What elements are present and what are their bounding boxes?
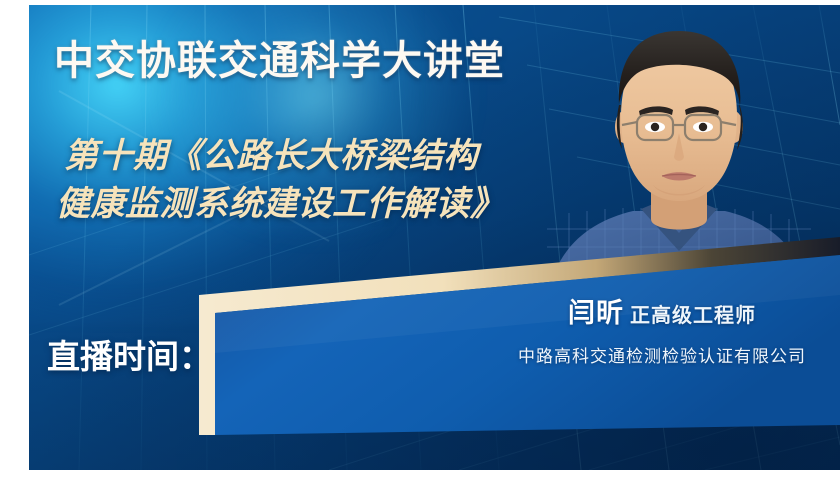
poster-canvas: 中交协联交通科学大讲堂 第十期《公路长大桥梁结构 健康监测系统建设工作解读》 直… — [29, 5, 840, 470]
poster-frame: 中交协联交通科学大讲堂 第十期《公路长大桥梁结构 健康监测系统建设工作解读》 直… — [0, 0, 840, 480]
speaker-panel-shape — [29, 5, 840, 470]
speaker-title: 正高级工程师 — [630, 305, 756, 327]
speaker-panel: 闫昕正高级工程师 中路高科交通检测检验认证有限公司 — [29, 5, 840, 470]
speaker-panel-text: 闫昕正高级工程师 中路高科交通检测检验认证有限公司 — [484, 291, 840, 367]
speaker-line: 闫昕正高级工程师 — [484, 291, 840, 330]
speaker-name: 闫昕 — [568, 298, 624, 328]
speaker-company: 中路高科交通检测检验认证有限公司 — [484, 342, 840, 367]
